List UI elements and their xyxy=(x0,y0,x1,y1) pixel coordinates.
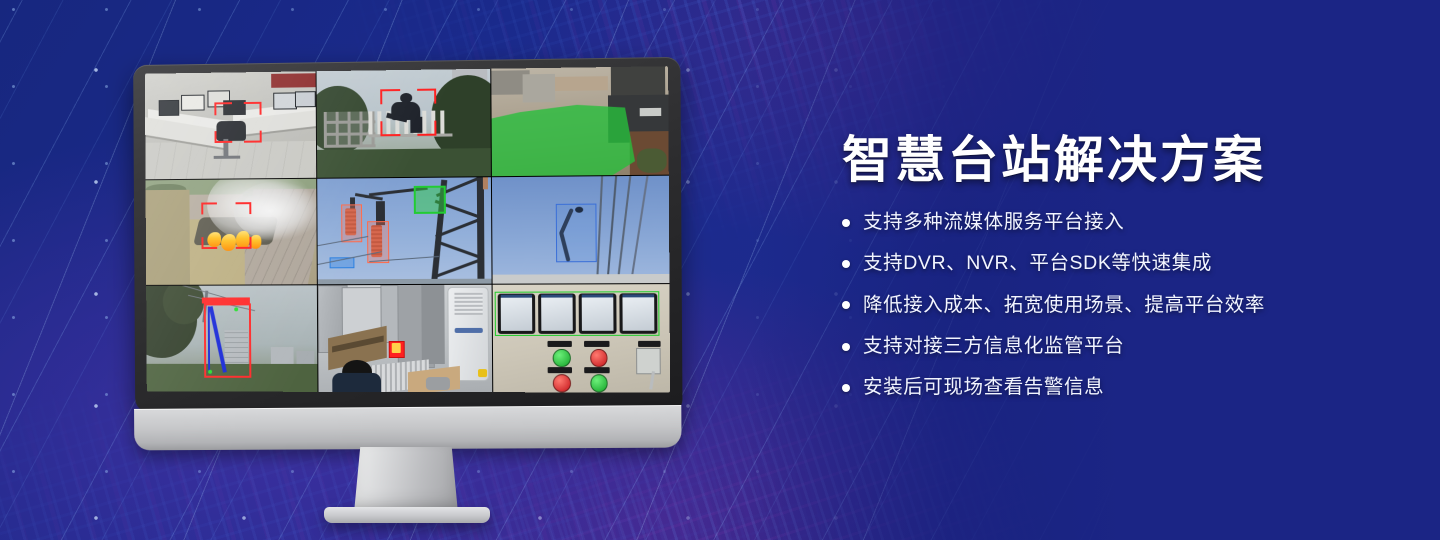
bullet-dot-icon xyxy=(842,219,850,227)
feature-label: 支持DVR、NVR、平台SDK等快速集成 xyxy=(863,251,1212,276)
bullet-dot-icon xyxy=(842,384,850,392)
monitor-stand-neck xyxy=(354,447,458,513)
camera-cell-line-object[interactable] xyxy=(492,175,670,284)
list-item: 安装后可现场查看告警信息 xyxy=(842,375,1402,400)
feature-label: 支持多种流媒体服务平台接入 xyxy=(863,210,1124,235)
list-item: 支持多种流媒体服务平台接入 xyxy=(842,210,1402,235)
camera-cell-zone-coverage[interactable] xyxy=(491,66,669,176)
bullet-dot-icon xyxy=(842,343,850,351)
camera-cell-control-room[interactable] xyxy=(145,71,316,179)
camera-cell-transmission-tower[interactable] xyxy=(317,177,491,285)
camera-cell-control-panel[interactable] xyxy=(493,284,671,392)
monitor-screen xyxy=(145,66,670,392)
feature-label: 支持对接三方信息化监管平台 xyxy=(863,334,1124,359)
monitor-chin-bezel xyxy=(134,405,681,450)
camera-cell-fire-smoke[interactable] xyxy=(146,178,317,285)
camera-cell-pole-tilt[interactable] xyxy=(146,286,317,392)
monitor-stand-base xyxy=(324,507,490,523)
feature-label: 降低接入成本、拓宽使用场景、提高平台效率 xyxy=(863,293,1265,318)
desktop-monitor xyxy=(118,55,678,495)
bullet-dot-icon xyxy=(842,260,850,268)
camera-cell-equipment-room[interactable] xyxy=(318,285,492,392)
smart-station-banner: 智慧台站解决方案 支持多种流媒体服务平台接入 支持DVR、NVR、平台SDK等快… xyxy=(0,0,1440,540)
bullet-dot-icon xyxy=(842,301,850,309)
feature-label: 安装后可现场查看告警信息 xyxy=(863,375,1104,400)
camera-cell-fence-intrusion[interactable] xyxy=(317,69,491,178)
list-item: 降低接入成本、拓宽使用场景、提高平台效率 xyxy=(842,293,1402,318)
list-item: 支持对接三方信息化监管平台 xyxy=(842,334,1402,359)
camera-grid xyxy=(145,66,670,392)
list-item: 支持DVR、NVR、平台SDK等快速集成 xyxy=(842,251,1402,276)
page-title: 智慧台站解决方案 xyxy=(842,132,1402,188)
feature-list: 支持多种流媒体服务平台接入 支持DVR、NVR、平台SDK等快速集成 降低接入成… xyxy=(842,210,1402,401)
banner-content: 智慧台站解决方案 支持多种流媒体服务平台接入 支持DVR、NVR、平台SDK等快… xyxy=(842,132,1402,417)
